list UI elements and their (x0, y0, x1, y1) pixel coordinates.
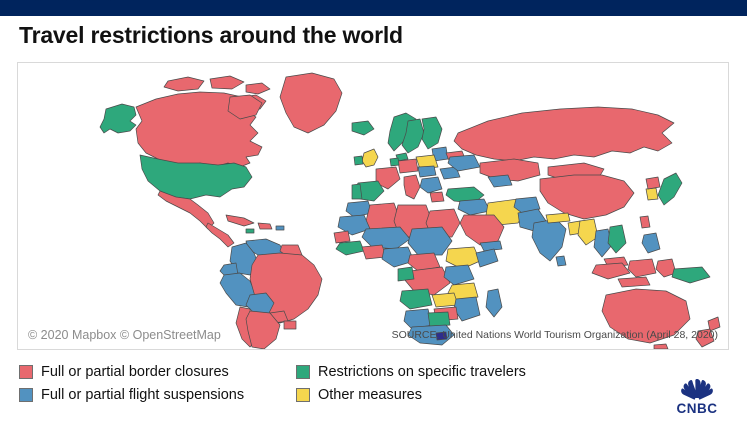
region-hispaniola (258, 223, 272, 229)
region-zambia (432, 293, 458, 307)
world-choropleth-map[interactable] (18, 63, 728, 349)
region-indonesia-java (618, 277, 650, 287)
region-sri-lanka (556, 256, 566, 266)
region-south-korea (646, 188, 658, 200)
region-uruguay (284, 321, 296, 329)
legend-item-other-measures[interactable]: Other measures (296, 387, 422, 403)
region-taiwan (640, 216, 650, 228)
dashboard-tab-label: Dashboard 1 (5, 0, 134, 7)
region-nepal-bhutan (546, 213, 570, 223)
region-netherlands (390, 158, 399, 166)
region-austria-czech (418, 166, 436, 177)
region-gabon-congo (398, 267, 414, 281)
legend-row: Full or partial border closures Restrict… (19, 360, 579, 383)
mapbox-attribution[interactable]: © 2020 Mapbox © OpenStreetMap (28, 328, 221, 342)
region-chad-sudan (408, 227, 452, 255)
region-botswana (428, 312, 450, 327)
legend-swatch-red (19, 365, 33, 379)
map-container[interactable]: © 2020 Mapbox © OpenStreetMap SOURCE: Un… (17, 62, 729, 350)
region-germany (398, 159, 418, 173)
dashboard-bar-underline (0, 13, 747, 16)
legend-label: Restrictions on specific travelers (318, 364, 526, 380)
legend-item-border-closures[interactable]: Full or partial border closures (19, 364, 296, 380)
legend-swatch-green (296, 365, 310, 379)
region-north-korea (646, 177, 660, 189)
dashboard-tab-bar[interactable]: Dashboard 1 (0, 0, 747, 13)
region-senegal (334, 231, 350, 243)
map-legend: Full or partial border closures Restrict… (19, 360, 579, 406)
legend-item-specific-travelers[interactable]: Restrictions on specific travelers (296, 364, 526, 380)
legend-swatch-blue (19, 388, 33, 402)
legend-label: Other measures (318, 387, 422, 403)
region-ireland (354, 156, 363, 165)
legend-item-flight-suspensions[interactable]: Full or partial flight suspensions (19, 387, 296, 403)
cnbc-wordmark: CNBC (677, 401, 718, 416)
legend-row: Full or partial flight suspensions Other… (19, 383, 579, 406)
region-jamaica (246, 229, 254, 233)
legend-label: Full or partial border closures (41, 364, 229, 380)
region-greece (430, 192, 444, 202)
region-tasmania (654, 344, 668, 349)
legend-label: Full or partial flight suspensions (41, 387, 244, 403)
cnbc-peacock-icon: CNBC (661, 376, 733, 416)
cnbc-logo: CNBC (661, 376, 733, 416)
legend-swatch-yellow (296, 388, 310, 402)
region-puerto-rico (276, 226, 284, 230)
page-title: Travel restrictions around the world (19, 22, 403, 49)
source-attribution: SOURCE: United Nations World Tourism Org… (392, 329, 718, 341)
region-portugal (352, 184, 362, 199)
